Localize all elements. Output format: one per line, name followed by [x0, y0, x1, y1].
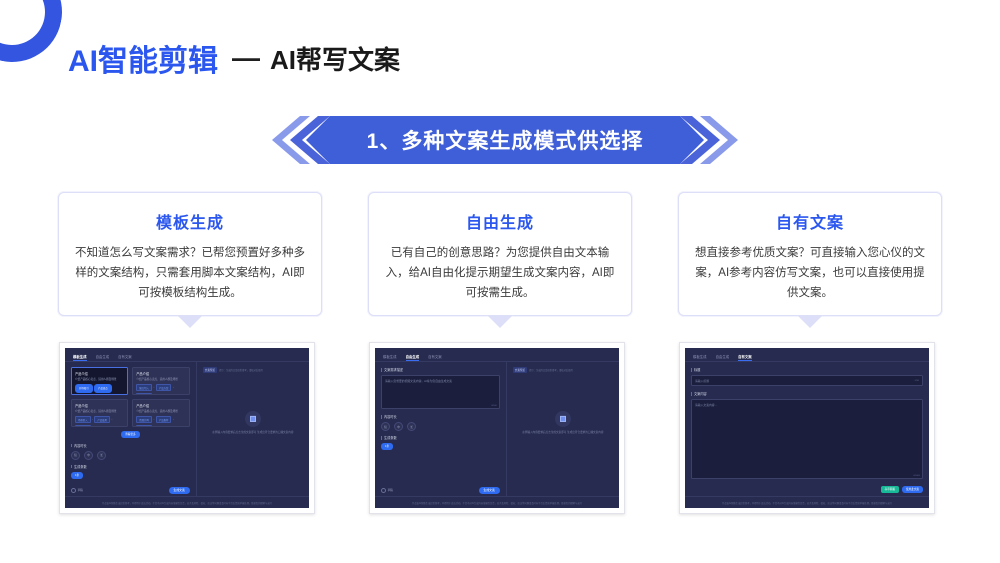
- generate-button[interactable]: 生成文案: [479, 487, 500, 494]
- template-pill: 效果展示: [75, 425, 91, 427]
- title-char-count: 0/30: [915, 380, 919, 382]
- template-card[interactable]: 产品介绍 介绍产品核心卖点、适用人群及场景 开场吸引 产品卖点: [71, 367, 128, 395]
- preview-hint: 提示：生成的文案仅供参考，请核对后使用: [529, 368, 573, 372]
- pill-separator-icon: ›: [173, 386, 174, 389]
- template-heading: 产品介绍: [75, 371, 124, 376]
- feature-card-free: 自由生成 已有自己的创意思路？为您提供自由文本输入，给AI自由化提示期望生成文案…: [368, 192, 632, 316]
- template-pill: 行动号召: [136, 393, 152, 395]
- draft-radio[interactable]: 草稿: [381, 488, 393, 493]
- template-pills: 场景带入 › 产品使用 › 效果展示: [75, 416, 124, 427]
- card-title: 自有文案: [679, 209, 941, 233]
- tab-own[interactable]: 自有文案: [118, 354, 132, 361]
- app-body: 产品介绍 介绍产品核心卖点、适用人群及场景 开场吸引 产品卖点 产品介绍 介绍产…: [65, 362, 309, 497]
- screenshot-template-mode: 模板生成 自由生成 自有文案 产品介绍 介绍产品核心卖点、适用人群及场景 开场吸…: [59, 342, 315, 514]
- duration-option[interactable]: 长: [407, 422, 416, 431]
- feature-cards: 模板生成 不知道怎么写文案需求？已帮您预置好多种多样的文案结构，只需套用脚本文案…: [0, 192, 1000, 332]
- duration-options: 短 中 长: [71, 451, 190, 460]
- template-pill: 开场吸引: [75, 384, 93, 393]
- draft-label: 草稿: [78, 488, 83, 492]
- template-heading: 产品介绍: [136, 403, 185, 408]
- tab-own[interactable]: 自有文案: [738, 354, 752, 361]
- template-subtitle: 介绍产品核心卖点、适用人群及场景: [75, 378, 124, 381]
- use-copy-button[interactable]: 使用此文案: [902, 486, 923, 493]
- pill-separator-icon: ›: [173, 418, 174, 421]
- content-field-label: 文案内容: [691, 391, 923, 396]
- more-row: 查看更多: [71, 431, 190, 438]
- own-form-pane: 标题 请输入标题 0/30 文案内容 请输入文案内容… 0/5000 存草稿箱 …: [685, 362, 929, 497]
- count-section: 生成条数 1条: [71, 464, 190, 479]
- duration-option[interactable]: 中: [84, 451, 93, 460]
- title-sub: AI帮写文案: [270, 40, 400, 77]
- app-footer-note: 作品由AI智能生成仅供参考，不得用于违法活动，平台不对AI生成内容准确性负责，如…: [375, 496, 619, 508]
- prompt-char-count: 0/500: [491, 405, 496, 407]
- card-description: 已有自己的创意思路？为您提供自由文本输入，给AI自由化提示期望生成文案内容，AI…: [385, 243, 615, 303]
- tab-free[interactable]: 自由生成: [406, 354, 420, 361]
- template-pill: 痛点切入: [136, 384, 152, 392]
- left-bottom-bar: 草稿 生成文案: [71, 487, 190, 494]
- title-placeholder: 请输入标题: [695, 379, 709, 383]
- card-pointer: [797, 315, 823, 328]
- pill-separator-icon: ›: [153, 386, 154, 389]
- duration-label: 内容时长: [71, 443, 190, 448]
- own-action-row: 存草稿箱 使用此文案: [881, 486, 923, 493]
- prompt-textarea[interactable]: 请输入您想要的视频文案内容，AI将为您自由生成文案 0/500: [381, 375, 500, 409]
- template-subtitle: 介绍产品核心卖点、适用人群及场景: [136, 378, 185, 381]
- empty-state-text: 左侧输入内容要求后点击生成文案即可 生成出符合要求的口播文案内容: [197, 431, 309, 435]
- content-textarea[interactable]: 请输入文案内容… 0/5000: [691, 399, 923, 479]
- card-description: 想直接参考优质文案？可直接输入您心仪的文案，AI参考内容仿写文案，也可以直接使用…: [695, 243, 925, 303]
- template-pill: 场景带入: [75, 416, 91, 424]
- right-pane: 文案预览 提示：生成的文案仅供参考，请核对后使用 左侧输入内容要求后点击生成文案…: [507, 362, 619, 497]
- app-tab-bar: 模板生成 自由生成 自有文案: [685, 348, 929, 362]
- prompt-label: 文案需求描述: [381, 367, 500, 372]
- template-subtitle: 介绍产品核心卖点、适用人群及场景: [75, 410, 124, 413]
- banner-label: 1、多种文案生成模式供选择: [306, 116, 704, 164]
- template-pill: 产品卖点: [94, 384, 112, 393]
- template-card[interactable]: 产品介绍 介绍产品核心卖点、适用人群及场景 痛点切入 › 产品方案 › 行动号召…: [132, 367, 189, 395]
- draft-label: 草稿: [388, 488, 393, 492]
- generate-button[interactable]: 生成文案: [169, 487, 190, 494]
- duration-option[interactable]: 中: [394, 422, 403, 431]
- app-footer-note: 作品由AI智能生成仅供参考，不得用于违法活动，平台不对AI生成内容准确性负责，如…: [685, 496, 929, 508]
- app-footer-note: 作品由AI智能生成仅供参考，不得用于违法活动，平台不对AI生成内容准确性负责，如…: [65, 496, 309, 508]
- card-pointer: [487, 315, 513, 328]
- title-dash: —: [232, 42, 258, 74]
- template-pill: 产品方案: [156, 384, 172, 392]
- pill-separator-icon: ›: [112, 418, 113, 421]
- tab-template[interactable]: 模板生成: [383, 354, 397, 361]
- left-pane: 文案需求描述 请输入您想要的视频文案内容，AI将为您自由生成文案 0/500 内…: [375, 362, 507, 497]
- title-main: AI智能剪辑: [68, 36, 218, 80]
- preview-tag: 文案预览: [203, 367, 217, 373]
- save-draft-button[interactable]: 存草稿箱: [881, 486, 899, 493]
- count-section: 生成条数 1条: [381, 435, 500, 450]
- pill-separator-icon: ›: [153, 418, 154, 421]
- content-placeholder: 请输入文案内容…: [695, 403, 717, 407]
- radio-icon: [71, 488, 76, 493]
- screenshot-row: 模板生成 自由生成 自有文案 产品介绍 介绍产品核心卖点、适用人群及场景 开场吸…: [0, 342, 1000, 517]
- card-description: 不知道怎么写文案需求？已帮您预置好多种多样的文案结构，只需套用脚本文案结构，AI…: [75, 243, 305, 303]
- template-grid: 产品介绍 介绍产品核心卖点、适用人群及场景 开场吸引 产品卖点 产品介绍 介绍产…: [71, 367, 190, 427]
- duration-section: 内容时长 短 中 长: [71, 443, 190, 460]
- tab-free[interactable]: 自由生成: [716, 354, 730, 361]
- app-tab-bar: 模板生成 自由生成 自有文案: [65, 348, 309, 362]
- document-icon: [245, 411, 261, 427]
- template-pills: 情感共鸣 › 产品推荐 › 购买引导: [136, 416, 185, 427]
- view-more-button[interactable]: 查看更多: [121, 431, 139, 438]
- preview-hint: 提示：生成的文案仅供参考，请核对后使用: [219, 368, 263, 372]
- title-input[interactable]: 请输入标题 0/30: [691, 375, 923, 386]
- prompt-placeholder: 请输入您想要的视频文案内容，AI将为您自由生成文案: [385, 379, 452, 383]
- card-pointer: [177, 315, 203, 328]
- tab-template[interactable]: 模板生成: [73, 354, 87, 361]
- duration-section: 内容时长 短 中 长: [381, 414, 500, 431]
- radio-icon: [381, 488, 386, 493]
- template-pills: 开场吸引 产品卖点: [75, 384, 124, 393]
- duration-option[interactable]: 长: [97, 451, 106, 460]
- chevron-right-outer-icon: [700, 116, 740, 164]
- empty-state: 左侧输入内容要求后点击生成文案即可 生成出符合要求的口播文案内容: [197, 411, 309, 435]
- template-pill: 产品使用: [94, 416, 110, 424]
- right-pane: 文案预览 提示：生成的文案仅供参考，请核对后使用 左侧输入内容要求后点击生成文案…: [197, 362, 309, 497]
- template-heading: 产品介绍: [136, 371, 185, 376]
- app-window: 模板生成 自由生成 自有文案 产品介绍 介绍产品核心卖点、适用人群及场景 开场吸…: [65, 348, 309, 508]
- duration-option[interactable]: 短: [381, 422, 390, 431]
- app-window: 模板生成 自由生成 自有文案 标题 请输入标题 0/30 文案内容 请输入文案内…: [685, 348, 929, 508]
- document-icon: [555, 411, 571, 427]
- template-heading: 产品介绍: [75, 403, 124, 408]
- count-label: 生成条数: [381, 435, 500, 440]
- duration-label: 内容时长: [381, 414, 500, 419]
- duration-options: 短 中 长: [381, 422, 500, 431]
- count-value[interactable]: 1条: [381, 443, 393, 450]
- duration-option[interactable]: 短: [71, 451, 80, 460]
- section-banner: 1、多种文案生成模式供选择: [270, 116, 740, 164]
- count-label: 生成条数: [71, 464, 190, 469]
- app-tab-bar: 模板生成 自由生成 自有文案: [375, 348, 619, 362]
- template-subtitle: 介绍产品核心卖点、适用人群及场景: [136, 410, 185, 413]
- tab-template[interactable]: 模板生成: [693, 354, 707, 361]
- template-card[interactable]: 产品介绍 介绍产品核心卖点、适用人群及场景 情感共鸣 › 产品推荐 › 购买引导…: [132, 399, 189, 427]
- template-pill: 产品推荐: [156, 416, 172, 424]
- empty-state-text: 左侧输入内容要求后点击生成文案即可 生成出符合要求的口播文案内容: [507, 431, 619, 435]
- card-title: 自由生成: [369, 209, 631, 233]
- app-window: 模板生成 自由生成 自有文案 文案需求描述 请输入您想要的视频文案内容，AI将为…: [375, 348, 619, 508]
- decorative-ring: [0, 0, 71, 71]
- template-pill: 情感共鸣: [136, 416, 152, 424]
- app-body: 标题 请输入标题 0/30 文案内容 请输入文案内容… 0/5000 存草稿箱 …: [685, 362, 929, 497]
- pill-separator-icon: ›: [92, 418, 93, 421]
- preview-header: 文案预览 提示：生成的文案仅供参考，请核对后使用: [513, 367, 613, 373]
- tab-free[interactable]: 自由生成: [96, 354, 110, 361]
- screenshot-free-mode: 模板生成 自由生成 自有文案 文案需求描述 请输入您想要的视频文案内容，AI将为…: [369, 342, 625, 514]
- left-bottom-bar: 草稿 生成文案: [381, 487, 500, 494]
- template-pills: 痛点切入 › 产品方案 › 行动号召: [136, 384, 185, 395]
- count-value[interactable]: 1条: [71, 472, 83, 479]
- preview-tag: 文案预览: [513, 367, 527, 373]
- title-field-label: 标题: [691, 367, 923, 372]
- left-pane: 产品介绍 介绍产品核心卖点、适用人群及场景 开场吸引 产品卖点 产品介绍 介绍产…: [65, 362, 197, 497]
- feature-card-own: 自有文案 想直接参考优质文案？可直接输入您心仪的文案，AI参考内容仿写文案，也可…: [678, 192, 942, 316]
- page-title: AI智能剪辑 — AI帮写文案: [68, 36, 400, 80]
- template-card[interactable]: 产品介绍 介绍产品核心卖点、适用人群及场景 场景带入 › 产品使用 › 效果展示…: [71, 399, 128, 427]
- draft-radio[interactable]: 草稿: [71, 488, 83, 493]
- feature-card-template: 模板生成 不知道怎么写文案需求？已帮您预置好多种多样的文案结构，只需套用脚本文案…: [58, 192, 322, 316]
- content-char-count: 0/5000: [913, 475, 920, 477]
- empty-state: 左侧输入内容要求后点击生成文案即可 生成出符合要求的口播文案内容: [507, 411, 619, 435]
- template-pill: 购买引导: [136, 425, 152, 427]
- screenshot-own-mode: 模板生成 自由生成 自有文案 标题 请输入标题 0/30 文案内容 请输入文案内…: [679, 342, 935, 514]
- card-title: 模板生成: [59, 209, 321, 233]
- preview-header: 文案预览 提示：生成的文案仅供参考，请核对后使用: [203, 367, 303, 373]
- tab-own[interactable]: 自有文案: [428, 354, 442, 361]
- app-body: 文案需求描述 请输入您想要的视频文案内容，AI将为您自由生成文案 0/500 内…: [375, 362, 619, 497]
